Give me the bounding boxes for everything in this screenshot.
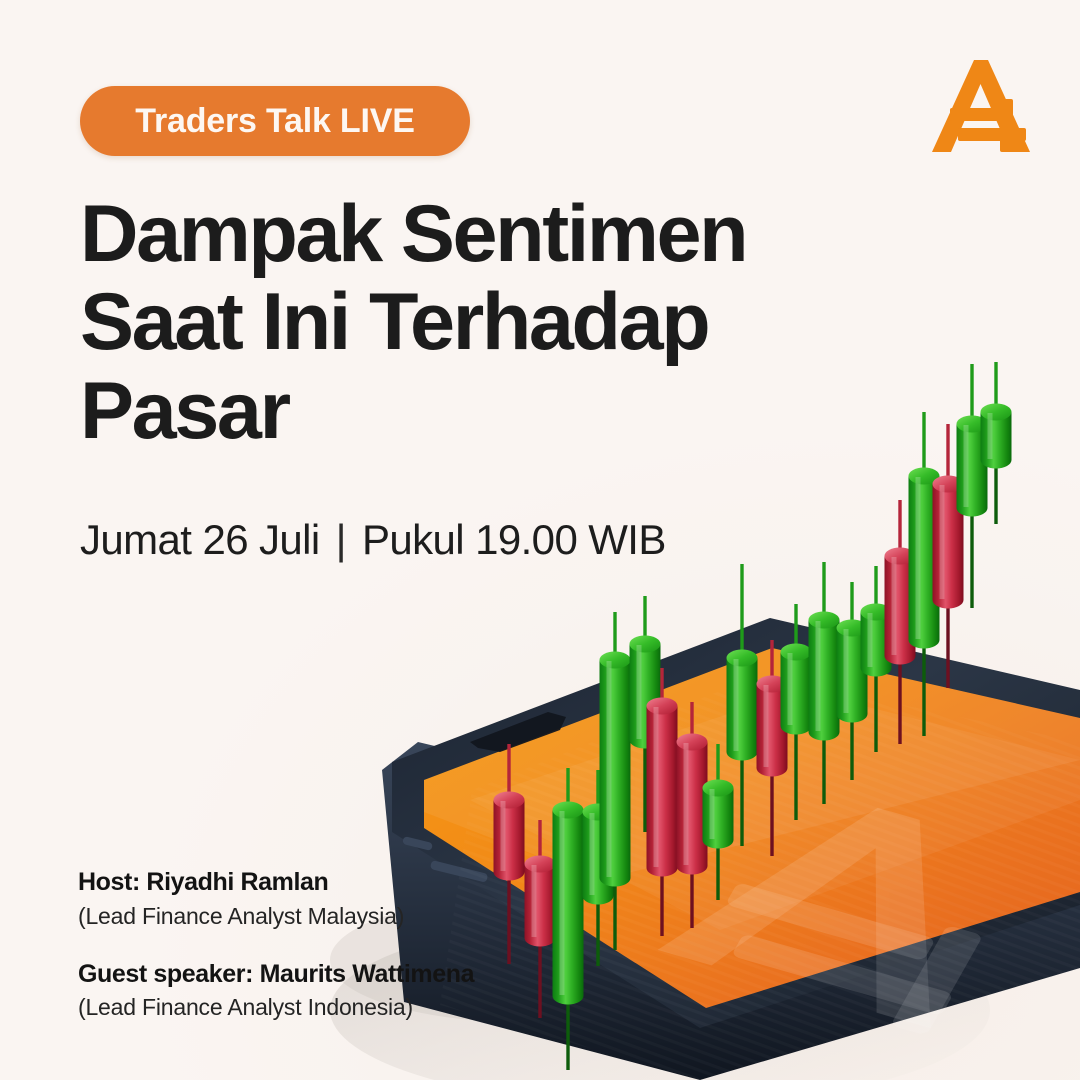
a-logo-icon: [930, 52, 1034, 160]
guest-role: (Lead Finance Analyst Indonesia): [78, 992, 474, 1023]
guest-credit: Guest speaker: Maurits Wattimena (Lead F…: [78, 958, 474, 1024]
host-credit: Host: Riyadhi Ramlan (Lead Finance Analy…: [78, 866, 474, 932]
live-badge[interactable]: Traders Talk LIVE: [80, 86, 470, 156]
credits-block: Host: Riyadhi Ramlan (Lead Finance Analy…: [78, 866, 474, 1049]
brand-logo: [930, 52, 1034, 160]
host-role: (Lead Finance Analyst Malaysia): [78, 901, 474, 932]
event-time: Pukul 19.00 WIB: [362, 516, 666, 564]
event-date: Jumat 26 Juli: [80, 516, 320, 564]
poster-canvas: Traders Talk LIVE Dampak Sentimen Saat I…: [0, 0, 1080, 1080]
schedule-line: Jumat 26 Juli | Pukul 19.00 WIB: [80, 516, 666, 564]
host-name: Host: Riyadhi Ramlan: [78, 866, 474, 899]
live-badge-label: Traders Talk LIVE: [135, 102, 414, 141]
title-line-2: Saat Ini Terhadap: [80, 278, 840, 366]
schedule-separator: |: [336, 516, 346, 564]
guest-name: Guest speaker: Maurits Wattimena: [78, 958, 474, 991]
title-line-3: Pasar: [80, 367, 840, 455]
title-line-1: Dampak Sentimen: [80, 190, 840, 278]
page-title: Dampak Sentimen Saat Ini Terhadap Pasar: [80, 190, 840, 455]
